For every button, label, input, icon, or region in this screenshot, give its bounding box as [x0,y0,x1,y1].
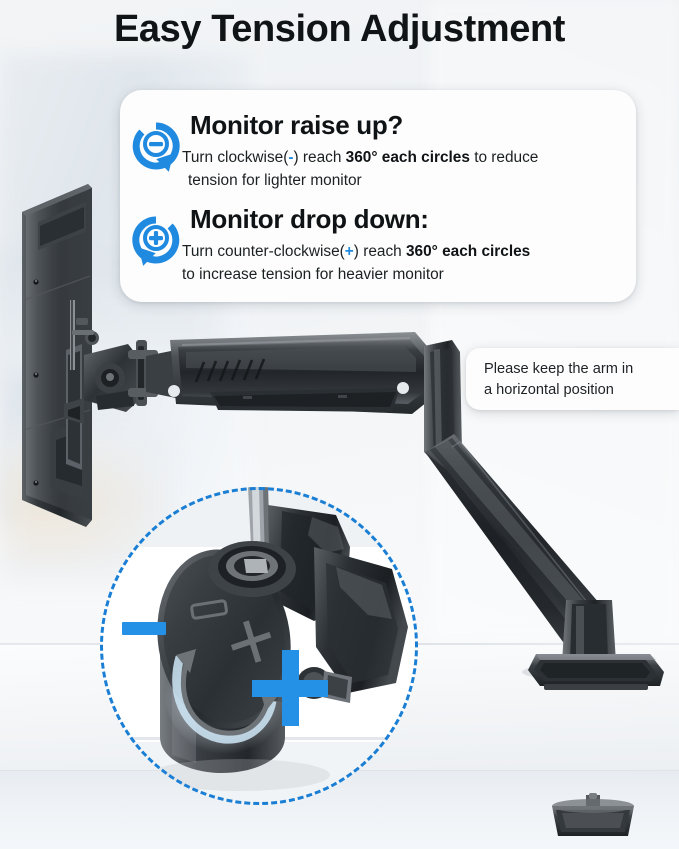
horizontal-position-note: Please keep the arm in a horizontal posi… [466,348,679,410]
detail-dashed-circle [100,487,418,805]
plus-sign-marker [252,650,328,726]
rotate-clockwise-minus-icon [128,118,184,174]
note-line-1: Please keep the arm in [484,361,633,377]
raise-text-line2: tension for lighter monitor [182,170,362,193]
minus-sign-marker [122,622,166,635]
page-title: Easy Tension Adjustment [0,8,679,51]
note-text: Please keep the arm in a horizontal posi… [484,359,669,401]
drop-plus-sign: + [345,243,354,260]
note-line-2: a horizontal position [484,382,614,398]
raise-text-mid: ) reach [293,149,345,166]
callout-raise-heading: Monitor raise up? [190,110,403,141]
rotate-counterclockwise-plus-icon [128,212,184,268]
drop-text-line2: to increase tension for heavier monitor [182,266,444,283]
instruction-card: Monitor raise up? Turn clockwise(-) reac… [120,90,636,302]
raise-text-bold: 360° each circles [346,149,470,166]
raise-text-post: to reduce [470,149,538,166]
drop-text-mid: ) reach [354,243,406,260]
infographic-canvas: Easy Tension Adjustment Monitor raise up… [0,0,679,849]
drop-text-bold: 360° each circles [406,243,530,260]
raise-text-pre: Turn clockwise( [182,149,288,166]
callout-raise-body: Turn clockwise(-) reach 360° each circle… [182,147,630,192]
callout-drop-heading: Monitor drop down: [190,204,429,235]
callout-drop-body: Turn counter-clockwise(+) reach 360° eac… [182,241,630,286]
drop-text-pre: Turn counter-clockwise( [182,243,345,260]
